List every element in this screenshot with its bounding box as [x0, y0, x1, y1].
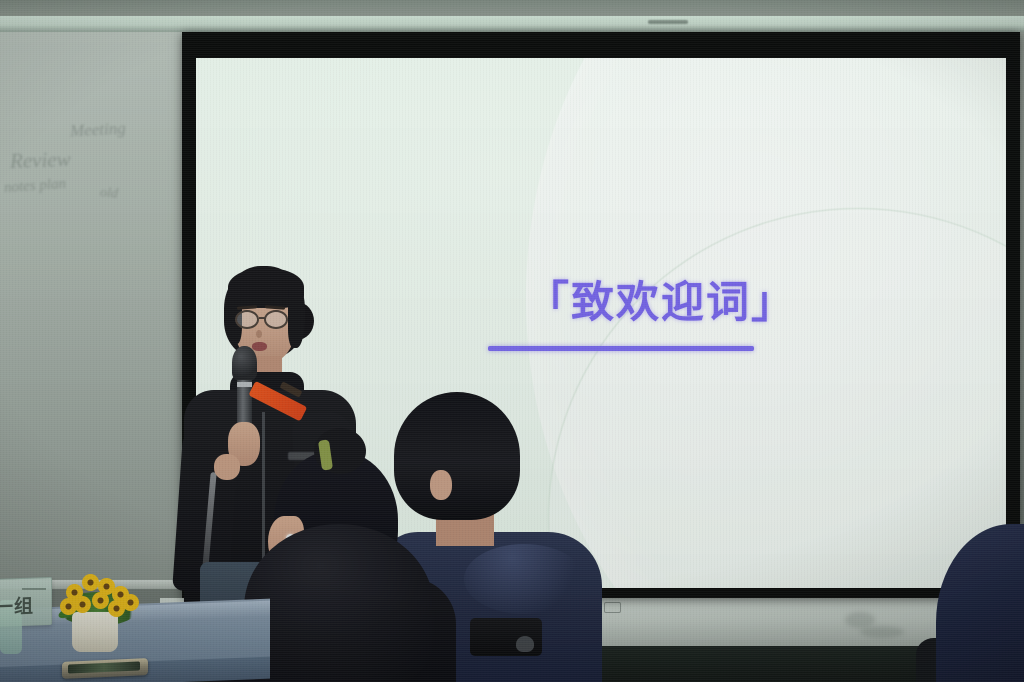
wall-smudge-1: [845, 612, 875, 628]
slide-title-text: 「致欢迎词」: [496, 268, 826, 330]
person-right-shoulder: [936, 524, 1024, 682]
ceiling-upper-band: [0, 0, 1024, 17]
presenter-hair-side-right: [288, 286, 305, 348]
presenter-hand-lower: [214, 454, 240, 480]
presenter-nose: [256, 330, 262, 338]
student-foreground-large-head: [244, 524, 434, 682]
flower-bloom-8: [60, 598, 77, 615]
flower-bloom-6: [92, 592, 109, 609]
wall-outlet: [604, 602, 621, 613]
ceiling-fixture-mark: [648, 20, 688, 24]
audience-student-foreground-large: [244, 524, 454, 682]
wall-smudge-2: [860, 626, 904, 638]
audience-person-right-edge: [930, 508, 1024, 682]
presenter-glasses-lens-right: [264, 310, 288, 329]
desk-device-lens: [516, 636, 534, 652]
presenter-mouth: [252, 342, 267, 351]
whiteboard-panel: [0, 28, 200, 588]
flower-pot: [72, 612, 118, 652]
microphone-head: [232, 346, 257, 380]
flower-bloom-9: [122, 594, 139, 611]
student-navy-ear: [430, 470, 452, 500]
slide-title-underline: [488, 346, 754, 351]
presenter-glasses-bridge: [259, 317, 265, 319]
microphone-band: [237, 382, 252, 387]
table-name-card-rule: [22, 588, 46, 590]
student-navy-shoulder-highlight: [464, 544, 584, 614]
photo-scene: Meeting Review notes plan old 「致欢迎词」: [0, 0, 1024, 682]
table-name-card-text: 一组: [0, 591, 34, 619]
presenter-glasses-lens-left: [235, 310, 259, 329]
ceiling-valance-strip: [0, 16, 1024, 32]
flower-bloom-2: [82, 574, 99, 591]
